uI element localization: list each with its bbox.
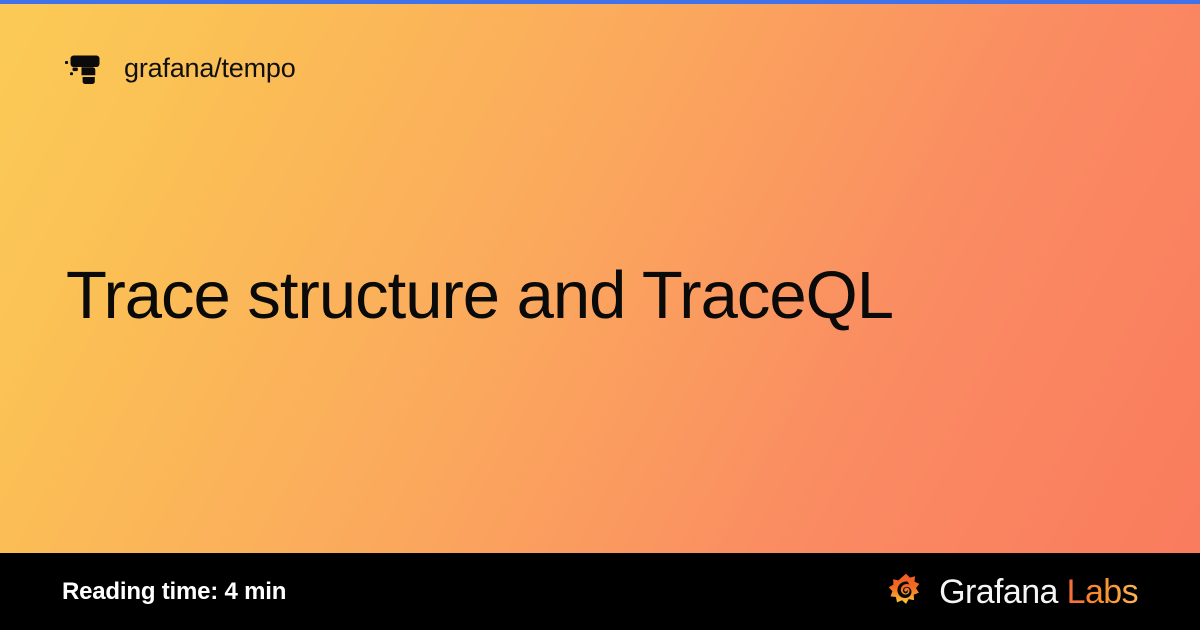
brand-word-labs: Labs: [1058, 573, 1138, 611]
tempo-logo-icon: [62, 46, 106, 90]
brand-word-grafana: Grafana: [939, 573, 1058, 611]
card-footer: Reading time: 4 min Grafana Labs: [0, 553, 1200, 630]
page-title: Trace structure and TraceQL: [66, 258, 1110, 333]
social-card: grafana/tempo Trace structure and TraceQ…: [0, 0, 1200, 630]
top-accent-bar: [0, 0, 1200, 4]
page-title-container: Trace structure and TraceQL: [66, 258, 1110, 333]
reading-time-label: Reading time: 4 min: [62, 580, 286, 604]
repo-name-label: grafana/tempo: [124, 55, 296, 82]
grafana-logo-icon: [886, 572, 926, 612]
grafana-labs-brand: Grafana Labs: [886, 572, 1138, 612]
grafana-labs-wordmark: Grafana Labs: [939, 575, 1138, 609]
repo-header: grafana/tempo: [62, 46, 296, 90]
